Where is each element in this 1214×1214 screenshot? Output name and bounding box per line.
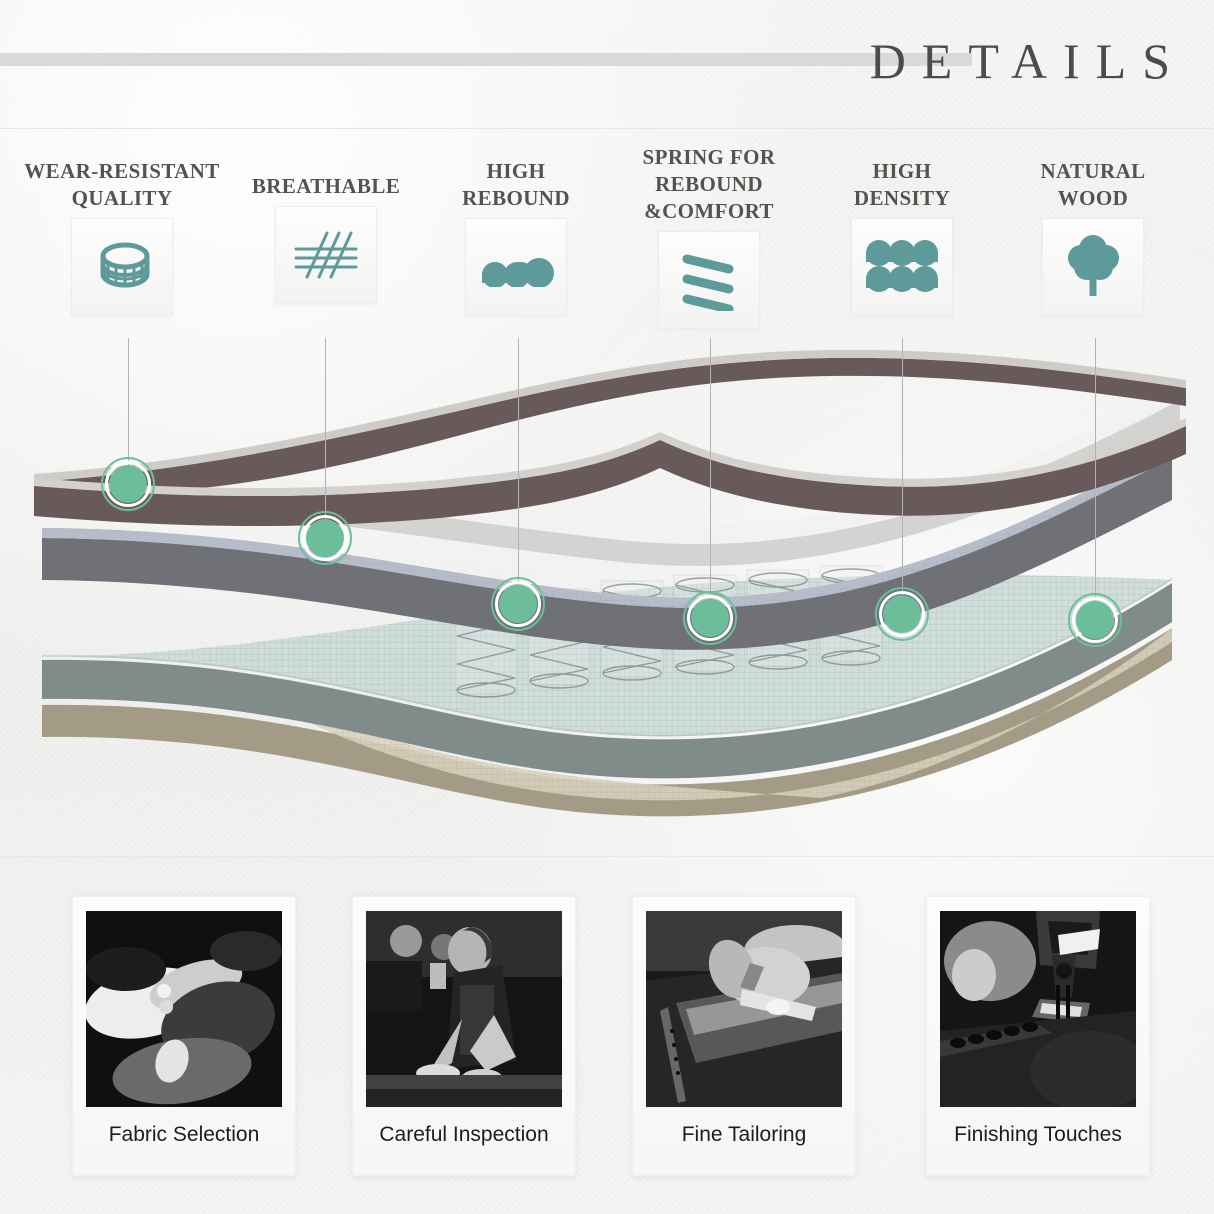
feature-callout-0[interactable]: WEAR-RESISTANTQUALITY: [22, 158, 222, 316]
feature-label-line2: REBOUND: [432, 185, 600, 212]
marker-dot: [109, 465, 147, 503]
tree-icon: [1042, 218, 1144, 316]
feature-label-line2: QUALITY: [22, 185, 222, 212]
process-card-list: Fabric Selection Careful Inspection: [0, 896, 1214, 1186]
weave-mesh-icon: [275, 206, 377, 304]
marker-dot: [306, 519, 344, 557]
process-card-caption: Fine Tailoring: [682, 1123, 807, 1147]
layer-top-leather: [34, 350, 1186, 526]
section-divider: [0, 856, 1214, 857]
layer-stack-svg: [0, 330, 1214, 830]
feature-callout-1[interactable]: BREATHABLE: [233, 173, 419, 304]
hands-inspecting-leather-photo: [86, 911, 282, 1107]
process-card-caption: Careful Inspection: [379, 1123, 548, 1147]
callout-marker-4[interactable]: [875, 587, 929, 641]
process-card-caption: Finishing Touches: [954, 1123, 1122, 1147]
diagonal-bars-icon: [658, 231, 760, 329]
callout-marker-1[interactable]: [298, 511, 352, 565]
process-card-3[interactable]: Finishing Touches: [926, 896, 1150, 1176]
marker-dot: [691, 599, 729, 637]
feature-callout-3[interactable]: SPRING FORREBOUND &COMFORT: [613, 144, 805, 329]
feature-label-line2: REBOUND &COMFORT: [613, 171, 805, 225]
feature-callout-5[interactable]: NATURALWOOD: [1003, 158, 1183, 316]
hand-cutting-leather-photo: [646, 911, 842, 1107]
process-card-2[interactable]: Fine Tailoring: [632, 896, 856, 1176]
feature-label-line1: SPRING FOR: [613, 144, 805, 171]
feature-callout-4[interactable]: HIGHDENSITY: [818, 158, 986, 316]
marker-dot: [499, 585, 537, 623]
feature-label-line1: HIGH: [432, 158, 600, 185]
sewing-machine-stitching-photo: [940, 911, 1136, 1107]
page-header: DETAILS: [0, 0, 1214, 130]
feature-callout-list: WEAR-RESISTANTQUALITY BREATHABLE HIGHREB…: [0, 140, 1214, 340]
feature-label-line1: BREATHABLE: [233, 173, 419, 200]
process-card-caption: Fabric Selection: [109, 1123, 260, 1147]
callout-marker-2[interactable]: [491, 577, 545, 631]
marker-dot: [883, 595, 921, 633]
callout-marker-0[interactable]: [101, 457, 155, 511]
feature-label-line2: DENSITY: [818, 185, 986, 212]
page-title: DETAILS: [870, 36, 1186, 86]
mattress-layer-diagram: [0, 330, 1214, 830]
feature-label-line1: NATURAL: [1003, 158, 1183, 185]
worker-at-workbench-photo: [366, 911, 562, 1107]
feature-label-line1: WEAR-RESISTANT: [22, 158, 222, 185]
feature-label-line2: WOOD: [1003, 185, 1183, 212]
callout-marker-3[interactable]: [683, 591, 737, 645]
fabric-roll-icon: [71, 218, 173, 316]
feature-label-line1: HIGH: [818, 158, 986, 185]
layer-spring-unit: [42, 566, 1172, 736]
double-foam-icon: [851, 218, 953, 316]
process-card-0[interactable]: Fabric Selection: [72, 896, 296, 1176]
header-accent-bar: [0, 53, 972, 66]
process-card-1[interactable]: Careful Inspection: [352, 896, 576, 1176]
marker-dot: [1076, 601, 1114, 639]
single-foam-icon: [465, 218, 567, 316]
feature-callout-2[interactable]: HIGHREBOUND: [432, 158, 600, 316]
callout-marker-5[interactable]: [1068, 593, 1122, 647]
header-divider: [0, 128, 1214, 129]
